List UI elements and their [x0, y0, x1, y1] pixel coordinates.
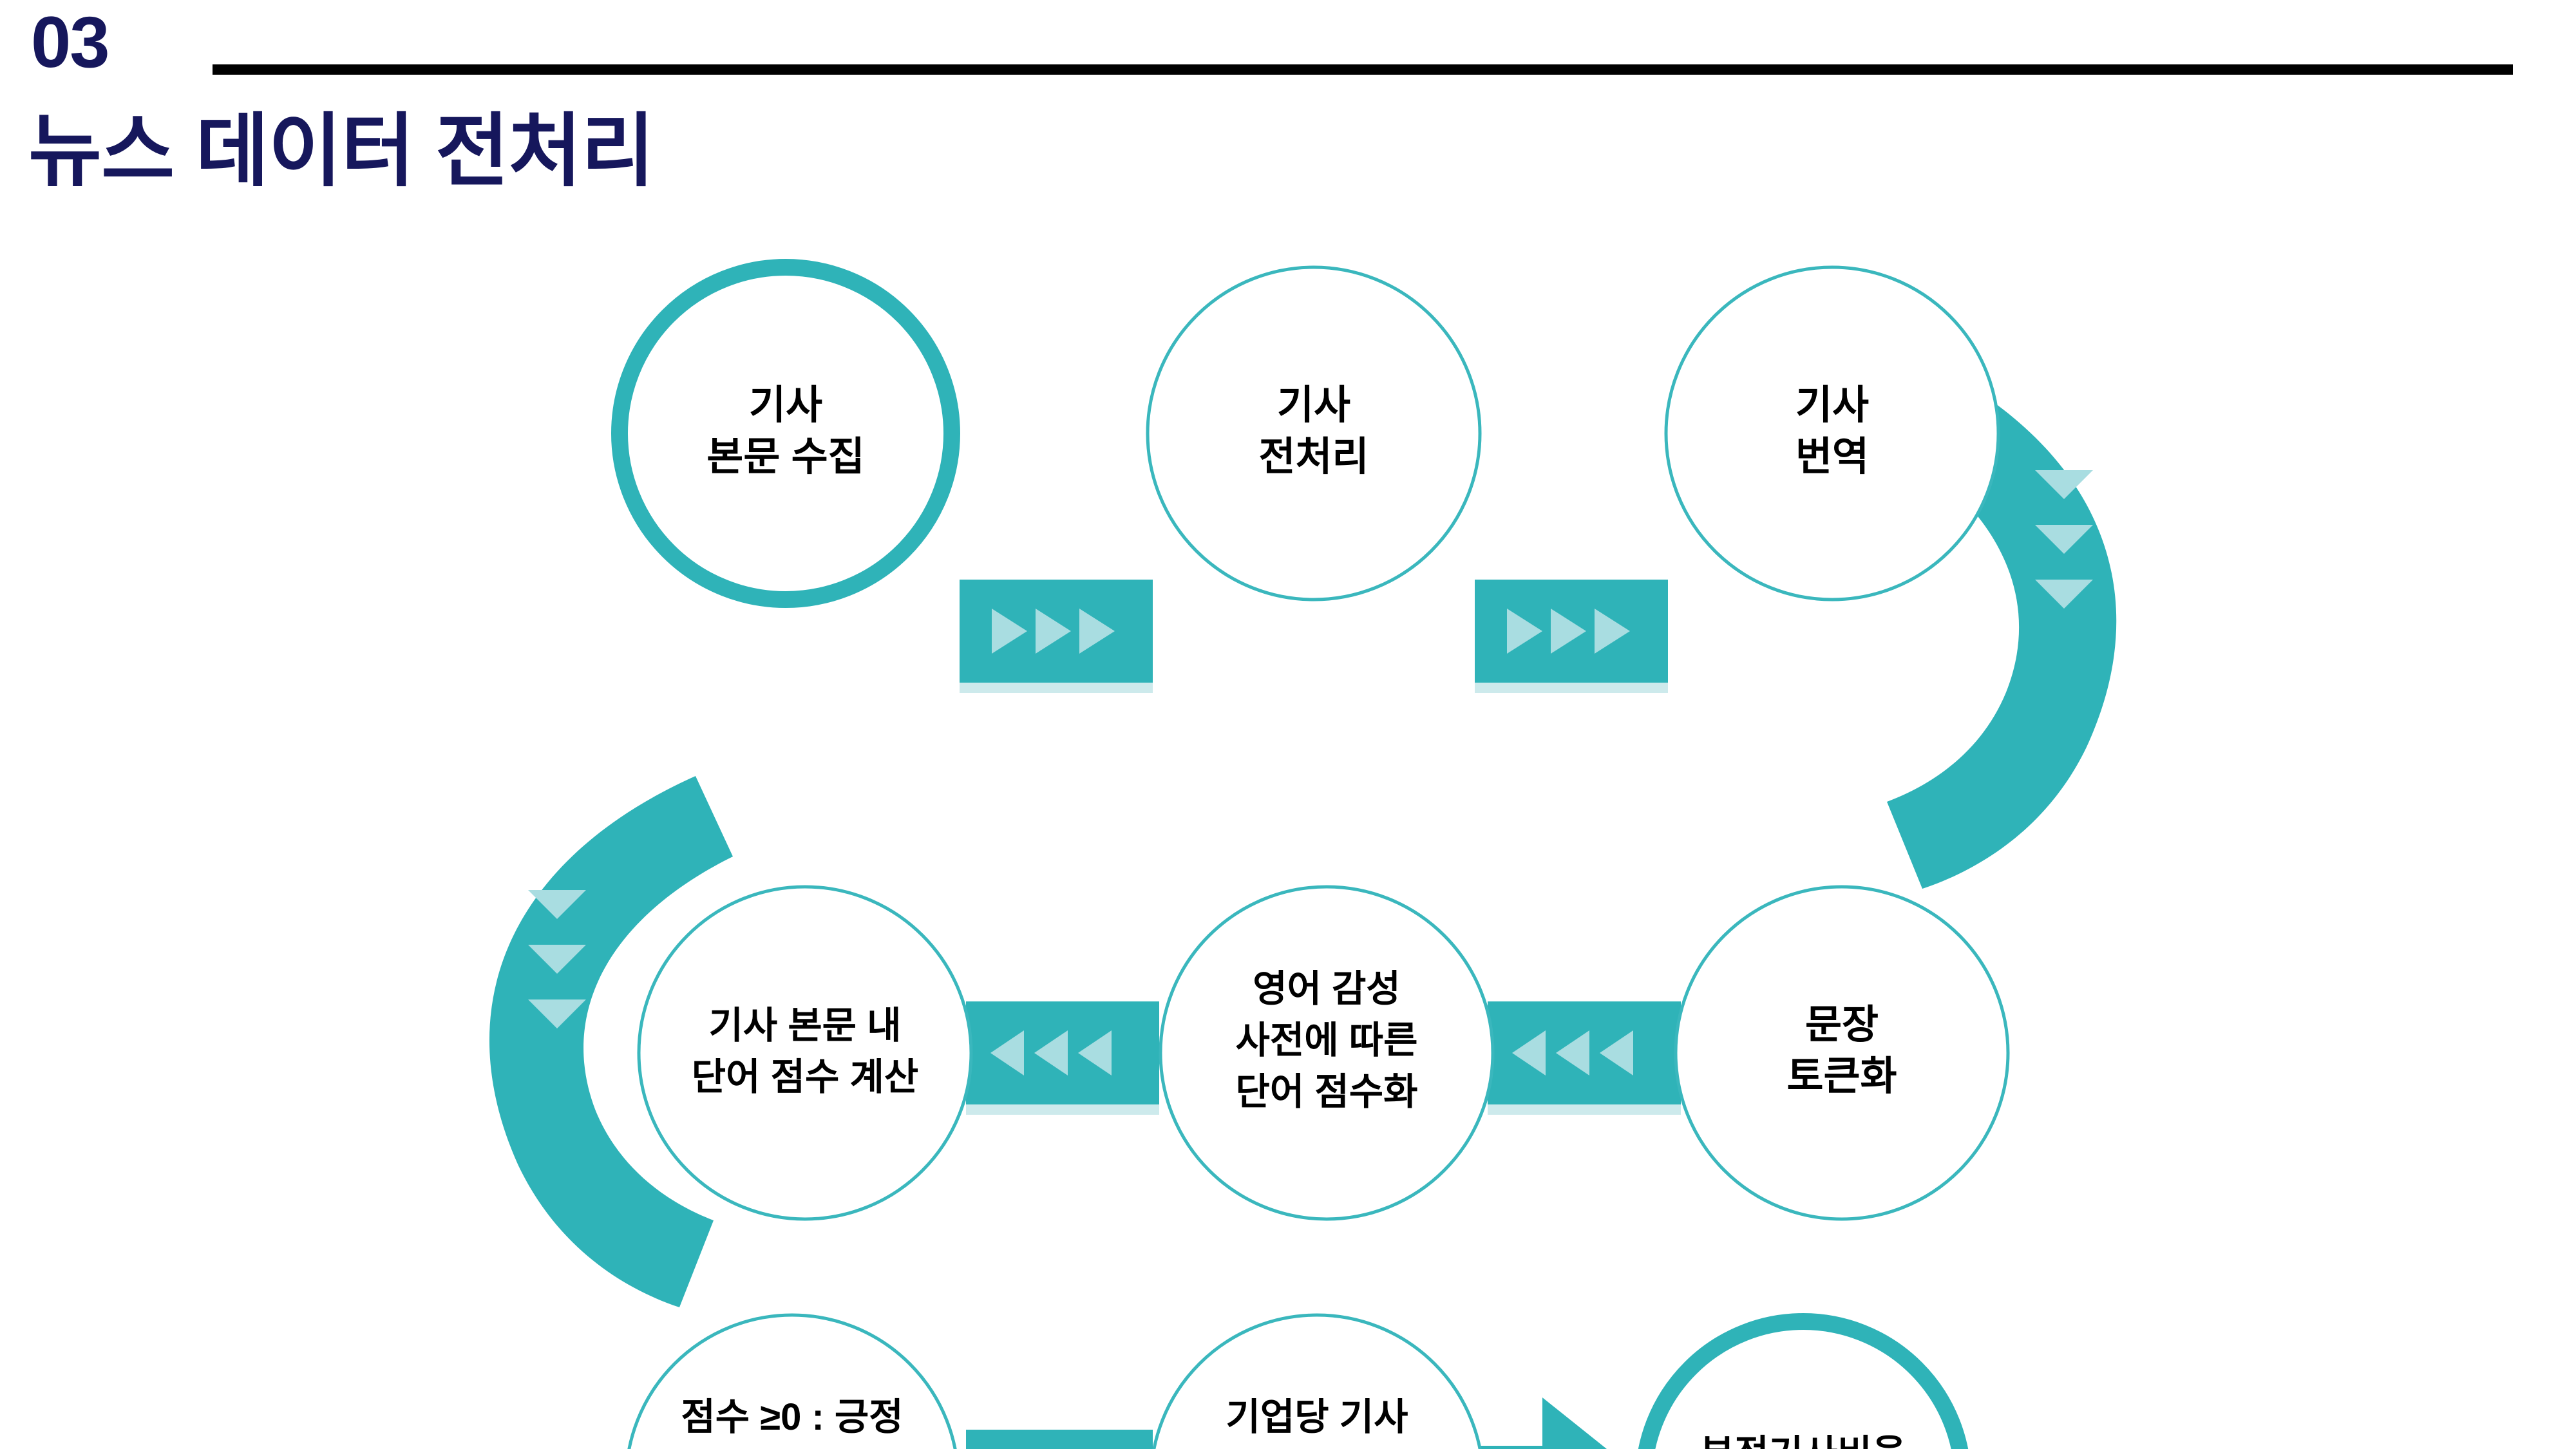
node-label-line: 사전에 따른	[1236, 1019, 1418, 1061]
node-circle-sentiment-dict-scoring[interactable]: 영어 감성 사전에 따른 단어 점수화	[1160, 887, 1493, 1219]
slide-header: 03 뉴스 데이터 전처리	[0, 0, 2576, 245]
connector-chevrons-right-2	[1475, 580, 1668, 693]
node-label-line: 전처리	[1258, 435, 1368, 479]
node-label-line: 번역	[1795, 435, 1869, 479]
process-flow-diagram: 기사 본문 수집 기사 전처리 기사 번역 기사 본문 내 단어 점수 계산 영…	[0, 219, 2576, 1449]
node-circle-score-classify[interactable]: 점수 ≥0 : 긍정 점수 <0 : 부정 0,1분류	[626, 1315, 958, 1449]
node-label-line: 문장	[1805, 1003, 1879, 1047]
node-label-line: 기사	[1795, 383, 1869, 428]
node-label-line: 본문 수집	[706, 435, 864, 479]
node-label-line: 기사	[749, 383, 822, 428]
section-number: 03	[31, 6, 109, 79]
node-label-line: 기사	[1277, 383, 1350, 428]
connector-chevrons-right-3	[966, 1430, 1153, 1449]
node-label-line: 영어 감성	[1253, 968, 1401, 1010]
node-circle-per-company-count[interactable]: 기업당 기사 긍정(0), 부정(1) 계산	[1151, 1315, 1483, 1449]
node-label-line: 기업당 기사	[1226, 1396, 1408, 1438]
header-divider-rule	[213, 64, 2513, 75]
node-label-line: 점수 ≥0 : 긍정	[681, 1396, 903, 1438]
connector-chevrons-left-1	[1488, 1001, 1681, 1115]
node-circle-article-preprocess[interactable]: 기사 전처리	[1148, 267, 1480, 600]
page-title: 뉴스 데이터 전처리	[28, 109, 654, 193]
node-circle-article-translate[interactable]: 기사 번역	[1666, 267, 1998, 600]
node-label-line: 단어 점수 계산	[692, 1056, 918, 1098]
node-label-line: 토큰화	[1786, 1054, 1897, 1099]
connector-chevrons-left-2	[966, 1001, 1159, 1115]
node-circle-sentence-tokenize[interactable]: 문장 토큰화	[1676, 887, 2008, 1219]
flow-svg: 기사 본문 수집 기사 전처리 기사 번역 기사 본문 내 단어 점수 계산 영…	[0, 219, 2576, 1449]
node-circle-article-collect[interactable]: 기사 본문 수집	[620, 267, 952, 600]
connector-block-arrow	[1468, 1397, 1649, 1449]
node-label-line: 기사 본문 내	[708, 1005, 901, 1046]
node-label-line: 부정기사비율	[1700, 1433, 1906, 1449]
connector-chevrons-right-1	[960, 580, 1153, 693]
node-circle-word-score-calc[interactable]: 기사 본문 내 단어 점수 계산	[639, 887, 971, 1219]
node-label-line: 단어 점수화	[1236, 1071, 1418, 1113]
node-circle-negative-ratio-result[interactable]: 부정기사비율 도출	[1643, 1321, 1963, 1449]
